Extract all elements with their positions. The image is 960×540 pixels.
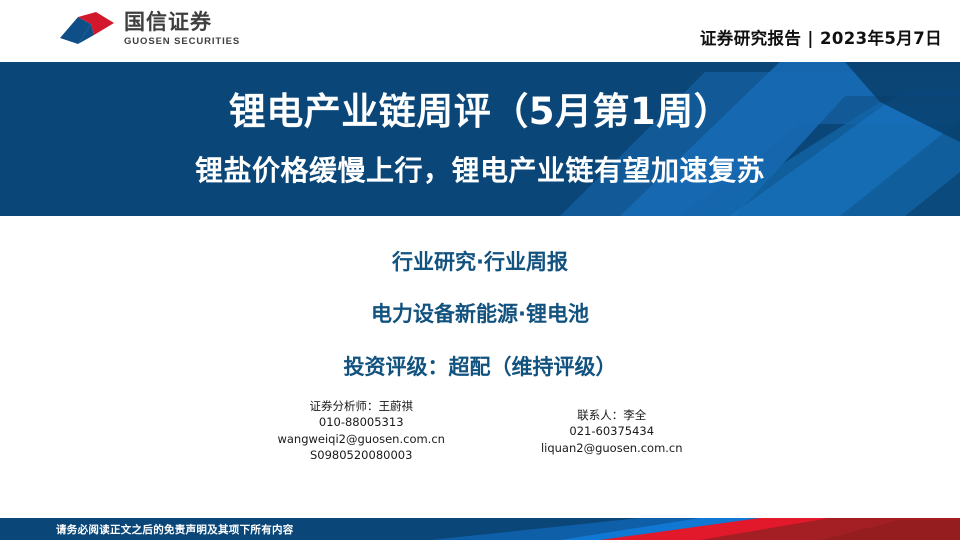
footer-disclaimer: 请务必阅读正文之后的免责声明及其项下所有内容 — [56, 518, 294, 540]
banner-text-group: 锂电产业链周评（5月第1周） 锂盐价格缓慢上行，锂电产业链有望加速复苏 — [0, 62, 960, 216]
analyst-email[interactable]: wangweiqi2@guosen.com.cn — [277, 431, 445, 447]
analyst-license-number: S0980520080003 — [310, 447, 412, 463]
brand-logo: 国信证券 GUOSEN SECURITIES — [58, 11, 240, 47]
brand-name-en: GUOSEN SECURITIES — [124, 37, 240, 47]
industry-sector: 电力设备新能源·锂电池 — [371, 298, 589, 328]
guosen-diamond-logo-icon — [58, 11, 116, 47]
brand-name-cn: 国信证券 — [124, 12, 240, 33]
title-banner: 锂电产业链周评（5月第1周） 锂盐价格缓慢上行，锂电产业链有望加速复苏 — [0, 62, 960, 216]
brand-name-block: 国信证券 GUOSEN SECURITIES — [124, 12, 240, 47]
investment-rating: 投资评级：超配（维持评级） — [344, 351, 617, 381]
associate-contact: 联系人：李全 021-60375434 liquan2@guosen.com.c… — [541, 398, 683, 456]
associate-email[interactable]: liquan2@guosen.com.cn — [541, 440, 683, 456]
report-cover-page: 国信证券 GUOSEN SECURITIES 证券研究报告 | 2023年5月7… — [0, 0, 960, 540]
associate-name: 联系人：李全 — [577, 407, 646, 423]
contact-block: 证券分析师：王蔚祺 010-88005313 wangweiqi2@guosen… — [0, 398, 960, 463]
associate-phone: 021-60375434 — [569, 423, 654, 439]
research-category: 行业研究·行业周报 — [392, 246, 568, 276]
report-classification-block: 行业研究·行业周报 电力设备新能源·锂电池 投资评级：超配（维持评级） — [0, 240, 960, 381]
analyst-phone: 010-88005313 — [319, 414, 404, 430]
report-subtitle: 锂盐价格缓慢上行，锂电产业链有望加速复苏 — [195, 149, 765, 189]
page-header: 国信证券 GUOSEN SECURITIES 证券研究报告 | 2023年5月7… — [0, 0, 960, 62]
page-footer: 请务必阅读正文之后的免责声明及其项下所有内容 — [0, 518, 960, 540]
analyst-name: 证券分析师：王蔚祺 — [309, 398, 413, 414]
report-type-and-date: 证券研究报告 | 2023年5月7日 — [700, 25, 942, 49]
analyst-contact: 证券分析师：王蔚祺 010-88005313 wangweiqi2@guosen… — [277, 398, 445, 463]
report-title: 锂电产业链周评（5月第1周） — [229, 81, 732, 135]
